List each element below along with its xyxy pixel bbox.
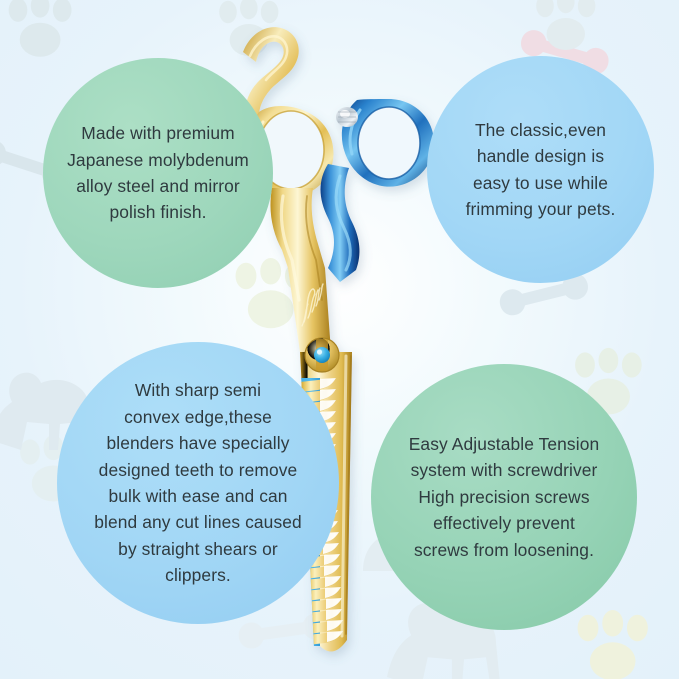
feature-text-handle-design: The classic,even handle design is easy t… bbox=[437, 117, 645, 223]
gold-shank bbox=[270, 188, 331, 352]
paw-print-icon bbox=[578, 610, 648, 679]
brand-script-engraving bbox=[302, 284, 323, 326]
blue-ring-hole bbox=[358, 107, 420, 179]
blue-shank bbox=[321, 164, 360, 282]
paw-print-icon bbox=[236, 258, 306, 328]
feature-text-tension-system: Easy Adjustable Tension system with scre… bbox=[371, 431, 637, 563]
feature-bubble-convex-edge-teeth[interactable]: With sharp semi convex edge,these blende… bbox=[57, 342, 339, 624]
infographic-canvas: Made with premium Japanese molybdenum al… bbox=[0, 0, 679, 679]
blue-shank-highlight bbox=[336, 176, 350, 270]
bone-icon bbox=[237, 612, 330, 650]
blade-edge-highlight bbox=[342, 356, 346, 636]
gold-shank-highlight bbox=[281, 196, 299, 300]
gold-shank-shadow bbox=[306, 196, 322, 300]
feature-bubble-premium-steel[interactable]: Made with premium Japanese molybdenum al… bbox=[43, 58, 273, 288]
blue-ring-inner-edge bbox=[358, 107, 420, 179]
paw-print-icon bbox=[219, 0, 278, 56]
tension-adjust-knob bbox=[336, 107, 358, 127]
blue-ring-highlight bbox=[350, 110, 360, 154]
blade-edge-shadow bbox=[346, 356, 351, 634]
feature-bubble-tension-system[interactable]: Easy Adjustable Tension system with scre… bbox=[371, 364, 637, 630]
feature-bubble-handle-design[interactable]: The classic,even handle design is easy t… bbox=[427, 56, 654, 283]
hook-highlight bbox=[250, 36, 287, 80]
paw-print-icon bbox=[536, 0, 595, 50]
feature-text-premium-steel: Made with premium Japanese molybdenum al… bbox=[43, 120, 273, 226]
blue-handle-ring bbox=[342, 99, 434, 187]
feature-text-convex-edge-teeth: With sharp semi convex edge,these blende… bbox=[57, 377, 339, 589]
paw-print-icon bbox=[9, 0, 72, 57]
pivot-tension-screw bbox=[305, 338, 339, 372]
